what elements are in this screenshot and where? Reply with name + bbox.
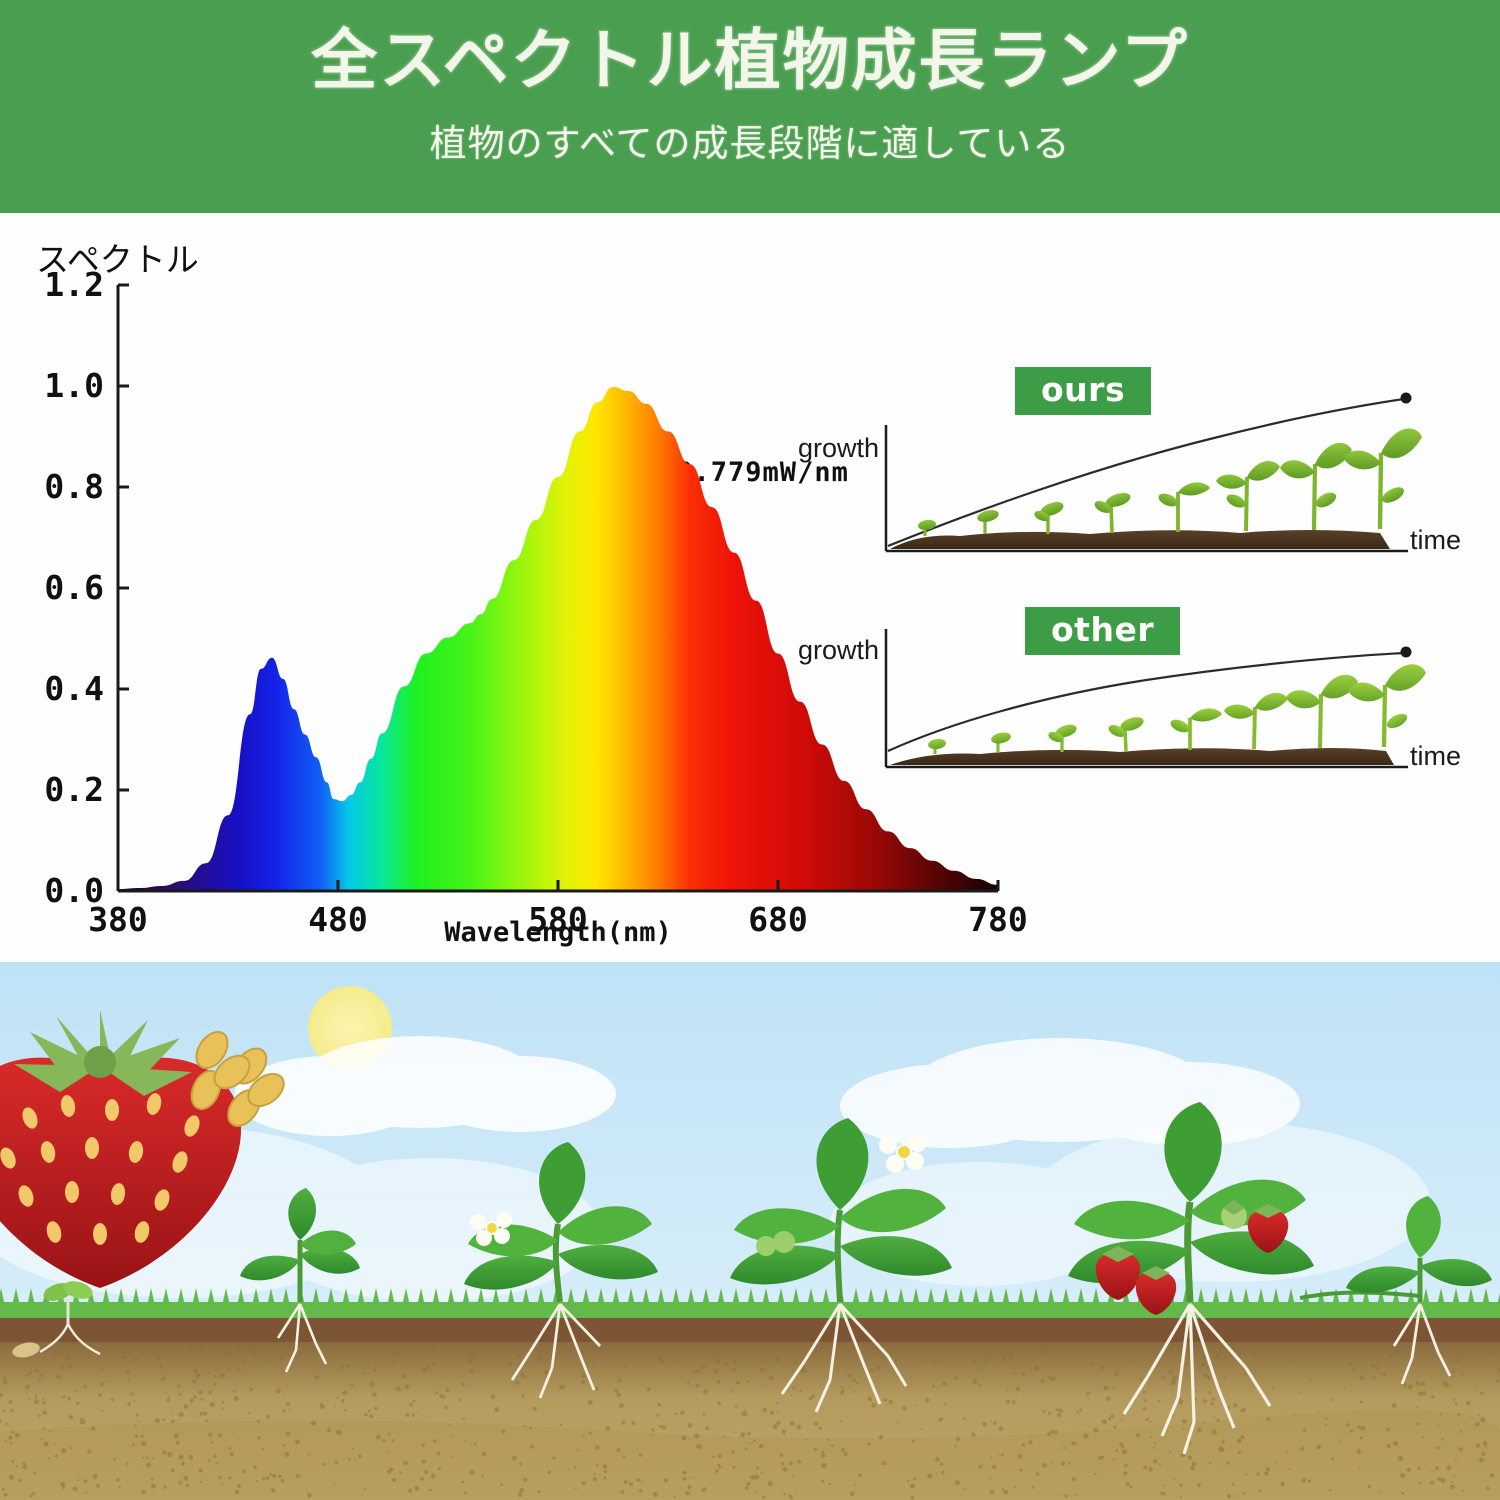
other-seedlings (927, 664, 1426, 754)
growth-chart-ours: ours growth time (790, 373, 1480, 573)
spectrum-chart: 3804805806807800.00.20.40.60.81.01.2 Wav… (0, 213, 1500, 962)
header-banner: 全スペクトル植物成長ランプ 植物のすべての成長段階に適している (0, 0, 1500, 213)
x-tick-label: 780 (968, 900, 1028, 939)
y-tick-label: 0.2 (44, 770, 104, 809)
growth-chart-other: other growth time (790, 611, 1480, 811)
soil-top-layer (0, 1318, 1500, 1342)
other-growth-svg (790, 611, 1480, 811)
y-tick-label: 0.0 (44, 871, 104, 910)
lifecycle-illustration (0, 962, 1500, 1500)
spectrum-section: スペクトル 1.0=38.779mW/nm (0, 213, 1500, 962)
x-axis-title: Wavelength(nm) (444, 917, 672, 948)
ours-seedlings (917, 429, 1422, 536)
y-tick-label: 0.6 (44, 568, 104, 607)
product-infographic: 全スペクトル植物成長ランプ 植物のすべての成長段階に適している スペクトル 1.… (0, 0, 1500, 1500)
other-endpoint-dot (1401, 647, 1412, 658)
page-subtitle: 植物のすべての成長段階に適している (0, 95, 1500, 167)
y-tick-label: 0.8 (44, 467, 104, 506)
y-tick-label: 0.4 (44, 669, 104, 708)
y-tick-label: 1.0 (44, 366, 104, 405)
x-tick-label: 480 (308, 900, 368, 939)
other-trend-line (888, 653, 1404, 751)
grass-blades (0, 1288, 1500, 1320)
ours-trend-line (888, 399, 1404, 546)
page-title: 全スペクトル植物成長ランプ (0, 0, 1500, 95)
x-tick-label: 680 (748, 900, 808, 939)
y-tick-label: 1.2 (44, 265, 104, 304)
ours-growth-svg (790, 373, 1480, 573)
ours-endpoint-dot (1401, 393, 1412, 404)
lifecycle-svg (0, 962, 1500, 1500)
